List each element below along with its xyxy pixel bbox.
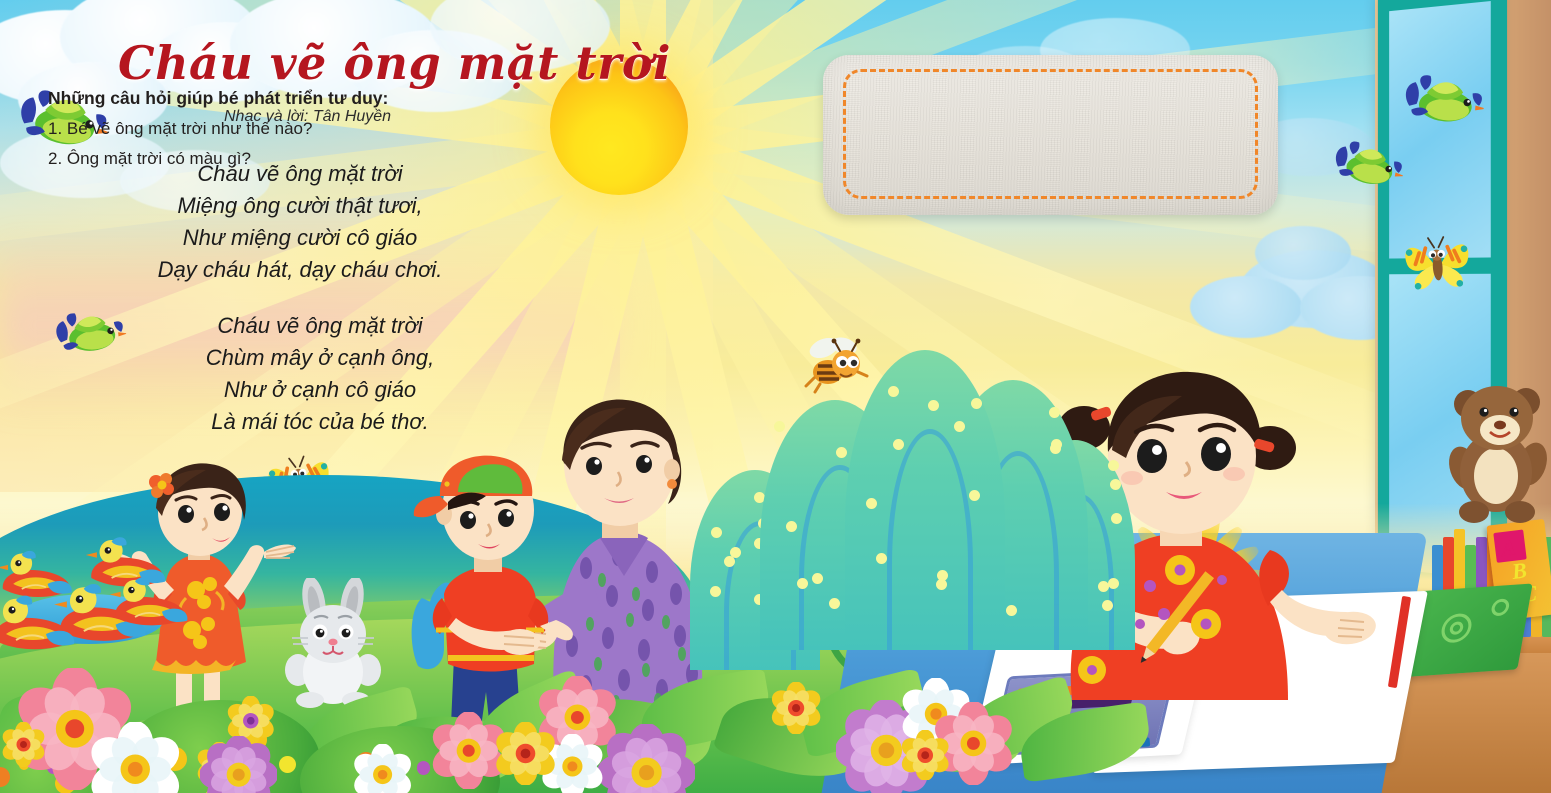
grass-dot [0,767,10,787]
flower-icon [200,736,277,793]
lyric-line: Như miệng cười cô giáo [140,222,460,254]
arch-dot [1102,600,1113,611]
arch-inner-line [887,429,974,650]
arch-dot [971,398,982,409]
arch-dot [1108,578,1119,589]
song-title: Cháu vẽ ông mặt trời [118,36,671,90]
flower-icon [598,724,695,793]
arch-dot [1006,605,1017,616]
question-box [823,55,1278,215]
arch-dot [876,553,887,564]
question-box-heading: Những câu hỏi giúp bé phát triển tư duy: [48,88,388,109]
arch-dot [710,586,721,597]
grass-dot [417,761,431,775]
bird-icon [1398,69,1486,135]
arch-dot [836,447,847,458]
question-item-2: 2. Ông mặt trời có màu gì? [48,149,251,169]
arch-dot [954,421,965,432]
butterfly-icon [1398,229,1477,296]
arch-dot [797,578,808,589]
arch-dot [969,490,980,501]
question-item-1: 1. Bé vẽ ông mặt trời như thế nào? [48,119,312,139]
flower-icon [352,744,413,793]
cloud-icon [1190,276,1302,338]
lyric-line: Chùm mây ở cạnh ông, [160,342,480,374]
flower-icon [88,722,183,793]
arch-dot [866,498,877,509]
bird-icon [49,304,128,364]
question-box-dashed-border [843,69,1258,199]
lyric-line: Miệng ông cười thật tươi, [140,190,460,222]
cloud-icon [1255,226,1351,280]
arch-dot [711,527,722,538]
lyrics-verse-1: Cháu vẽ ông mặt trời Miệng ông cười thật… [140,158,460,286]
flower-icon [494,722,557,785]
arch-dot [829,598,840,609]
rabbit-plush-icon [278,578,388,708]
lyric-line: Cháu vẽ ông mặt trời [160,310,480,342]
lyric-line: Như ở cạnh cô giáo [160,374,480,406]
arch-dot [936,579,947,590]
abc-letter-a: A [1500,535,1518,563]
lyrics-verse-2: Cháu vẽ ông mặt trời Chùm mây ở cạnh ông… [160,310,480,438]
arch-dot [888,386,899,397]
duck-toy-icon [108,572,191,635]
arch-dot [1110,479,1121,490]
arch-dot [928,400,939,411]
flower-icon [770,682,822,734]
teddy-bear-icon [1440,372,1551,532]
lyric-line: Dạy cháu hát, dạy cháu chơi. [140,254,460,286]
arch-dot [893,439,904,450]
arch-dot [1111,513,1122,524]
arch-dot [786,521,797,532]
arch-dot [1098,581,1109,592]
lyric-line: Là mái tóc của bé thơ. [160,406,480,438]
grass-dot [279,756,296,773]
arch-dot [1049,407,1060,418]
flower-icon [1,722,46,767]
duck-toy-icon [0,590,78,660]
bee-icon [800,332,870,394]
arch-dot [1108,460,1119,471]
arch-dot [1050,443,1061,454]
illustration-page: B C A Cháu vẽ ông mặt trời Nhạc và lời: … [0,0,1551,793]
flower-icon [900,730,950,780]
